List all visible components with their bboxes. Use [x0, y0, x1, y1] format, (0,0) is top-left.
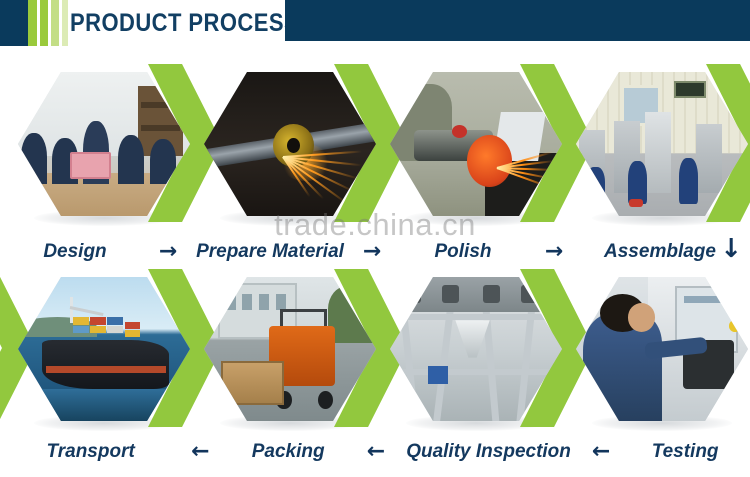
arrow-down-icon: ↓ — [720, 234, 742, 264]
process-row-2-labels: Transport ← Packing ← Quality Inspection… — [0, 432, 750, 472]
page-title-wrap: PRODUCT PROCESS — [70, 0, 270, 46]
arrow-left-icon: ← — [592, 441, 610, 463]
process-step-testing[interactable] — [566, 265, 750, 431]
step-label-design: Design — [43, 241, 106, 263]
arrow-right-icon: → — [159, 241, 177, 263]
step-label-assemblage: Assemblage — [604, 241, 716, 263]
process-row-1-labels: Design → Prepare Material → Polish → Ass… — [0, 232, 750, 272]
step-label-quality-inspection: Quality Inspection — [406, 441, 571, 463]
step-label-prepare-material: Prepare Material — [196, 241, 344, 263]
process-image-testing[interactable] — [576, 277, 748, 421]
arrow-left-icon: ← — [191, 441, 209, 463]
step-label-polish: Polish — [434, 241, 491, 263]
step-label-transport: Transport — [46, 441, 134, 463]
arrow-left-icon: ← — [367, 441, 385, 463]
page-title: PRODUCT PROCESS — [70, 9, 299, 38]
arrow-right-icon: → — [363, 241, 381, 263]
step-label-packing: Packing — [252, 441, 325, 463]
header-navy-block-right — [285, 0, 750, 41]
arrow-right-icon: → — [545, 241, 563, 263]
header-green-stripes — [28, 0, 68, 46]
process-row-1 — [0, 60, 750, 260]
step-label-testing: Testing — [652, 441, 719, 463]
page-header: PRODUCT PROCESS — [0, 0, 750, 46]
header-navy-block-left — [0, 0, 28, 46]
